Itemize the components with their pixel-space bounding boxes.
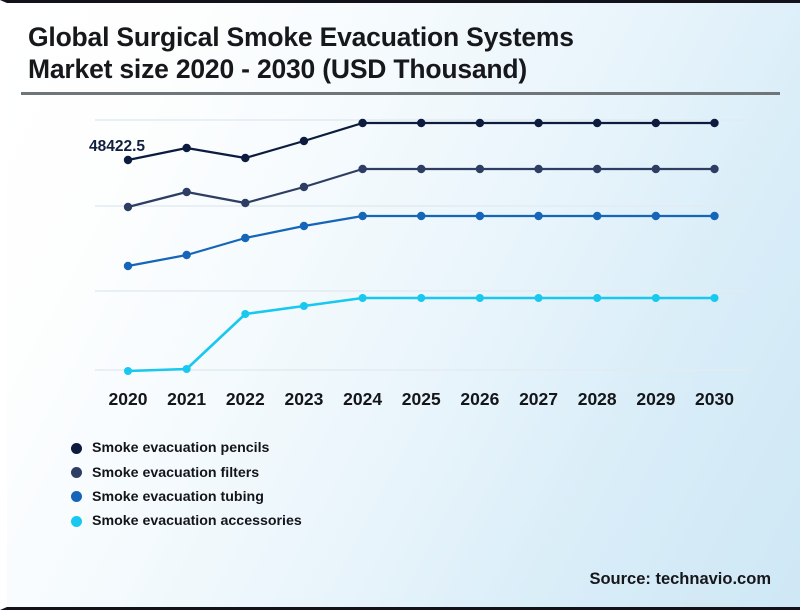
series-line-2 xyxy=(128,216,715,266)
data-point-marker[interactable] xyxy=(476,119,484,127)
data-point-marker[interactable] xyxy=(300,137,308,145)
data-point-marker[interactable] xyxy=(182,251,190,259)
data-point-marker[interactable] xyxy=(300,222,308,230)
series-line-1 xyxy=(128,169,715,207)
data-point-marker[interactable] xyxy=(358,165,366,173)
x-axis-tick-2030: 2030 xyxy=(680,389,750,410)
legend-item-label: Smoke evacuation accessories xyxy=(92,513,302,529)
data-point-marker[interactable] xyxy=(241,154,249,162)
data-point-marker[interactable] xyxy=(358,212,366,220)
data-point-marker[interactable] xyxy=(182,188,190,196)
data-point-marker[interactable] xyxy=(652,212,660,220)
data-point-marker[interactable] xyxy=(710,165,718,173)
data-point-marker[interactable] xyxy=(241,310,249,318)
legend-item-label: Smoke evacuation tubing xyxy=(92,489,264,505)
data-point-marker[interactable] xyxy=(417,212,425,220)
data-point-marker[interactable] xyxy=(241,199,249,207)
legend-swatch-icon xyxy=(71,516,82,527)
data-point-marker[interactable] xyxy=(358,119,366,127)
data-point-marker[interactable] xyxy=(652,294,660,302)
series-line-3 xyxy=(128,298,715,371)
chart-legend: Smoke evacuation pencilsSmoke evacuation… xyxy=(71,436,302,534)
data-point-marker[interactable] xyxy=(710,212,718,220)
legend-item-0[interactable]: Smoke evacuation pencils xyxy=(71,436,302,460)
data-point-marker[interactable] xyxy=(300,183,308,191)
legend-swatch-icon xyxy=(71,443,82,454)
data-point-marker[interactable] xyxy=(124,367,132,375)
data-point-marker[interactable] xyxy=(417,119,425,127)
data-point-marker[interactable] xyxy=(476,294,484,302)
data-point-marker[interactable] xyxy=(710,119,718,127)
data-point-marker[interactable] xyxy=(593,212,601,220)
legend-swatch-icon xyxy=(71,467,82,478)
data-point-marker[interactable] xyxy=(534,212,542,220)
data-point-marker[interactable] xyxy=(417,165,425,173)
data-point-marker[interactable] xyxy=(124,156,132,164)
legend-swatch-icon xyxy=(71,491,82,502)
data-point-marker[interactable] xyxy=(182,144,190,152)
chart-series-lines xyxy=(128,123,715,371)
legend-item-2[interactable]: Smoke evacuation tubing xyxy=(71,485,302,509)
data-point-marker[interactable] xyxy=(652,119,660,127)
series-line-0 xyxy=(128,123,715,160)
data-point-marker[interactable] xyxy=(476,212,484,220)
data-point-marker[interactable] xyxy=(593,165,601,173)
source-attribution: Source: technavio.com xyxy=(589,570,771,589)
data-point-marker[interactable] xyxy=(124,262,132,270)
infographic-root: Global Surgical Smoke Evacuation Systems… xyxy=(0,0,800,610)
data-value-label: 48422.5 xyxy=(89,138,145,156)
x-axis-labels: 2020202120222023202420252026202720282029… xyxy=(7,389,800,415)
legend-item-label: Smoke evacuation filters xyxy=(92,465,259,481)
data-point-marker[interactable] xyxy=(183,365,191,373)
data-point-marker[interactable] xyxy=(534,165,542,173)
legend-item-label: Smoke evacuation pencils xyxy=(92,440,269,456)
data-point-marker[interactable] xyxy=(417,294,425,302)
data-point-marker[interactable] xyxy=(593,119,601,127)
data-point-marker[interactable] xyxy=(652,165,660,173)
data-point-marker[interactable] xyxy=(534,119,542,127)
data-point-marker[interactable] xyxy=(476,165,484,173)
data-point-marker[interactable] xyxy=(359,294,367,302)
data-point-marker[interactable] xyxy=(300,302,308,310)
data-point-marker[interactable] xyxy=(241,234,249,242)
legend-item-3[interactable]: Smoke evacuation accessories xyxy=(71,509,302,533)
data-point-marker[interactable] xyxy=(535,294,543,302)
data-point-marker[interactable] xyxy=(593,294,601,302)
data-point-marker[interactable] xyxy=(124,203,132,211)
legend-item-1[interactable]: Smoke evacuation filters xyxy=(71,460,302,484)
chart-gridlines xyxy=(95,120,747,370)
data-point-marker[interactable] xyxy=(711,294,719,302)
